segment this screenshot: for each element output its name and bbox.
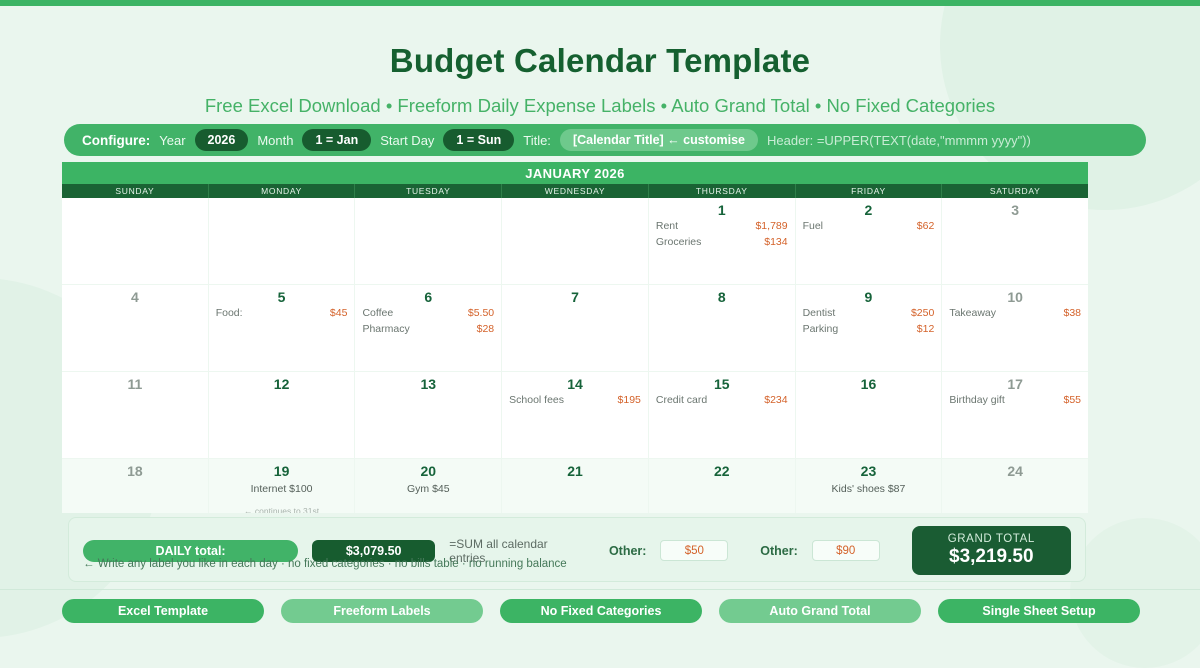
day-cell-4[interactable]: 4: [62, 285, 209, 371]
day-cell-23[interactable]: 23Kids' shoes $87: [796, 459, 943, 513]
weekday-header-saturday: SATURDAY: [942, 184, 1088, 198]
day-number: 22: [656, 463, 788, 479]
month-value-chip[interactable]: 1 = Jan: [302, 129, 371, 151]
expense-label: Fuel: [803, 219, 823, 234]
expense-amount: $38: [1064, 306, 1082, 321]
day-number: 8: [656, 289, 788, 305]
week-row: 11121314School fees$19515Credit card$234…: [62, 372, 1088, 459]
day-cell-11[interactable]: 11: [62, 372, 209, 458]
day-cell-1[interactable]: 1Rent$1,789Groceries$134: [649, 198, 796, 284]
expense-entry[interactable]: Coffee$5.50: [362, 306, 494, 321]
day-number: 11: [69, 376, 201, 392]
day-number: 2: [803, 202, 935, 218]
expense-label: Birthday gift: [949, 393, 1004, 408]
day-number: 13: [362, 376, 494, 392]
day-number: 7: [509, 289, 641, 305]
start-day-value-chip[interactable]: 1 = Sun: [443, 129, 514, 151]
top-accent-bar: [0, 0, 1200, 6]
expense-amount: $12: [917, 322, 935, 337]
month-label: Month: [257, 133, 293, 148]
configure-bar: Configure: Year 2026 Month 1 = Jan Start…: [64, 124, 1146, 156]
day-number: 1: [656, 202, 788, 218]
footer-divider: [0, 589, 1200, 590]
day-number: 20: [362, 463, 494, 479]
day-number: 3: [949, 202, 1081, 218]
page-title: Budget Calendar Template: [0, 0, 1200, 80]
feature-pill-single-sheet-setup[interactable]: Single Sheet Setup: [938, 599, 1140, 623]
expense-amount: $62: [917, 219, 935, 234]
week-row: 1819Internet $100← continues to 31st20Gy…: [62, 459, 1088, 513]
day-cell-22[interactable]: 22: [649, 459, 796, 513]
day-number: 23: [803, 463, 935, 479]
day-number: 17: [949, 376, 1081, 392]
week-rows: ----1Rent$1,789Groceries$1342Fuel$62345F…: [62, 198, 1088, 513]
weekday-header-tuesday: TUESDAY: [355, 184, 502, 198]
header-formula-text: Header: =UPPER(TEXT(date,"mmmm yyyy")): [767, 133, 1031, 148]
feature-pill-freeform-labels[interactable]: Freeform Labels: [281, 599, 483, 623]
expense-entry-centered[interactable]: Kids' shoes $87: [803, 482, 935, 497]
weekday-header-thursday: THURSDAY: [649, 184, 796, 198]
expense-amount: $28: [477, 322, 495, 337]
other1-label: Other:: [609, 544, 647, 558]
other2-label: Other:: [760, 544, 798, 558]
day-number: 19: [216, 463, 348, 479]
day-cell-18[interactable]: 18: [62, 459, 209, 513]
expense-entry[interactable]: Birthday gift$55: [949, 393, 1081, 408]
day-number: 9: [803, 289, 935, 305]
day-cell-6[interactable]: 6Coffee$5.50Pharmacy$28: [355, 285, 502, 371]
day-cell-20[interactable]: 20Gym $45: [355, 459, 502, 513]
expense-label: Groceries: [656, 235, 702, 250]
expense-entry[interactable]: Pharmacy$28: [362, 322, 494, 337]
expense-label: Credit card: [656, 393, 707, 408]
expense-entry[interactable]: Fuel$62: [803, 219, 935, 234]
day-number: 4: [69, 289, 201, 305]
expense-label: Food:: [216, 306, 243, 321]
calendar-title-label: Title:: [523, 133, 551, 148]
weekday-header-monday: MONDAY: [209, 184, 356, 198]
grand-total-label: GRAND TOTAL: [948, 533, 1035, 545]
day-number: 16: [803, 376, 935, 392]
day-number: 24: [949, 463, 1081, 479]
footer-note: ← Write any label you like in each day ·…: [83, 558, 567, 570]
day-number: 12: [216, 376, 348, 392]
expense-amount: $55: [1064, 393, 1082, 408]
expense-label: Rent: [656, 219, 678, 234]
expense-amount: $1,789: [755, 219, 787, 234]
expense-entry-centered[interactable]: Internet $100: [216, 482, 348, 497]
day-number: 15: [656, 376, 788, 392]
day-cell-17[interactable]: 17Birthday gift$55: [942, 372, 1088, 458]
day-cell-24[interactable]: 24: [942, 459, 1088, 513]
expense-entry[interactable]: Rent$1,789: [656, 219, 788, 234]
day-number: 21: [509, 463, 641, 479]
day-cell-8[interactable]: 8: [649, 285, 796, 371]
expense-amount: $45: [330, 306, 348, 321]
feature-pill-auto-grand-total[interactable]: Auto Grand Total: [719, 599, 921, 623]
day-cell-3[interactable]: 3: [942, 198, 1088, 284]
expense-label: Dentist: [803, 306, 836, 321]
day-cell-empty[interactable]: -: [355, 198, 502, 284]
day-number: 18: [69, 463, 201, 479]
expense-entry[interactable]: Takeaway$38: [949, 306, 1081, 321]
expense-label: Parking: [803, 322, 839, 337]
day-cell-15[interactable]: 15Credit card$234: [649, 372, 796, 458]
expense-label: School fees: [509, 393, 564, 408]
feature-pill-excel-template[interactable]: Excel Template: [62, 599, 264, 623]
expense-amount: $250: [911, 306, 934, 321]
feature-pill-no-fixed-categories[interactable]: No Fixed Categories: [500, 599, 702, 623]
month-header: JANUARY 2026: [62, 162, 1088, 184]
grand-total-value: $3,219.50: [949, 546, 1034, 568]
day-cell-19[interactable]: 19Internet $100← continues to 31st: [209, 459, 356, 513]
day-cell-2[interactable]: 2Fuel$62: [796, 198, 943, 284]
day-number: 10: [949, 289, 1081, 305]
day-cell-21[interactable]: 21: [502, 459, 649, 513]
day-cell-empty[interactable]: -: [209, 198, 356, 284]
expense-amount: $5.50: [468, 306, 494, 321]
expense-amount: $234: [764, 393, 787, 408]
page-subtitle: Free Excel Download • Freeform Daily Exp…: [0, 80, 1200, 117]
weekday-header-sunday: SUNDAY: [62, 184, 209, 198]
day-cell-13[interactable]: 13: [355, 372, 502, 458]
configure-prefix: Configure:: [82, 133, 150, 148]
expense-entry-centered[interactable]: Gym $45: [362, 482, 494, 497]
week-row: ----1Rent$1,789Groceries$1342Fuel$623: [62, 198, 1088, 285]
feature-pill-row: Excel TemplateFreeform LabelsNo Fixed Ca…: [62, 599, 1140, 623]
start-day-label: Start Day: [380, 133, 434, 148]
year-value-chip[interactable]: 2026: [195, 129, 249, 151]
expense-entry[interactable]: Credit card$234: [656, 393, 788, 408]
day-cell-12[interactable]: 12: [209, 372, 356, 458]
grand-total-card: GRAND TOTAL $3,219.50: [912, 526, 1071, 575]
expense-entry[interactable]: Groceries$134: [656, 235, 788, 250]
day-cell-empty[interactable]: -: [502, 198, 649, 284]
day-cell-14[interactable]: 14School fees$195: [502, 372, 649, 458]
weekday-header-row: SUNDAYMONDAYTUESDAYWEDNESDAYTHURSDAYFRID…: [62, 184, 1088, 198]
day-cell-7[interactable]: 7: [502, 285, 649, 371]
other2-input[interactable]: $90: [812, 540, 880, 561]
expense-label: Pharmacy: [362, 322, 409, 337]
expense-entry[interactable]: School fees$195: [509, 393, 641, 408]
calendar-grid: JANUARY 2026 SUNDAYMONDAYTUESDAYWEDNESDA…: [62, 162, 1088, 513]
day-cell-5[interactable]: 5Food:$45: [209, 285, 356, 371]
day-cell-empty[interactable]: -: [62, 198, 209, 284]
week-row: 45Food:$456Coffee$5.50Pharmacy$28789Dent…: [62, 285, 1088, 372]
day-cell-16[interactable]: 16: [796, 372, 943, 458]
expense-entry[interactable]: Dentist$250: [803, 306, 935, 321]
day-number: 6: [362, 289, 494, 305]
day-number: 5: [216, 289, 348, 305]
weekday-header-wednesday: WEDNESDAY: [502, 184, 649, 198]
calendar-title-chip[interactable]: [Calendar Title] ← customise: [560, 129, 758, 151]
day-number: 14: [509, 376, 641, 392]
year-label: Year: [159, 133, 185, 148]
expense-entry[interactable]: Parking$12: [803, 322, 935, 337]
expense-label: Takeaway: [949, 306, 996, 321]
continues-note: ← continues to 31st: [216, 506, 348, 513]
expense-entry[interactable]: Food:$45: [216, 306, 348, 321]
totals-bar: DAILY total: $3,079.50 =SUM all calendar…: [68, 517, 1086, 582]
expense-amount: $195: [618, 393, 641, 408]
day-cell-9[interactable]: 9Dentist$250Parking$12: [796, 285, 943, 371]
day-cell-10[interactable]: 10Takeaway$38: [942, 285, 1088, 371]
expense-amount: $134: [764, 235, 787, 250]
page-root: Budget Calendar Template Free Excel Down…: [0, 0, 1200, 628]
other1-input[interactable]: $50: [660, 540, 728, 561]
expense-label: Coffee: [362, 306, 393, 321]
weekday-header-friday: FRIDAY: [796, 184, 943, 198]
